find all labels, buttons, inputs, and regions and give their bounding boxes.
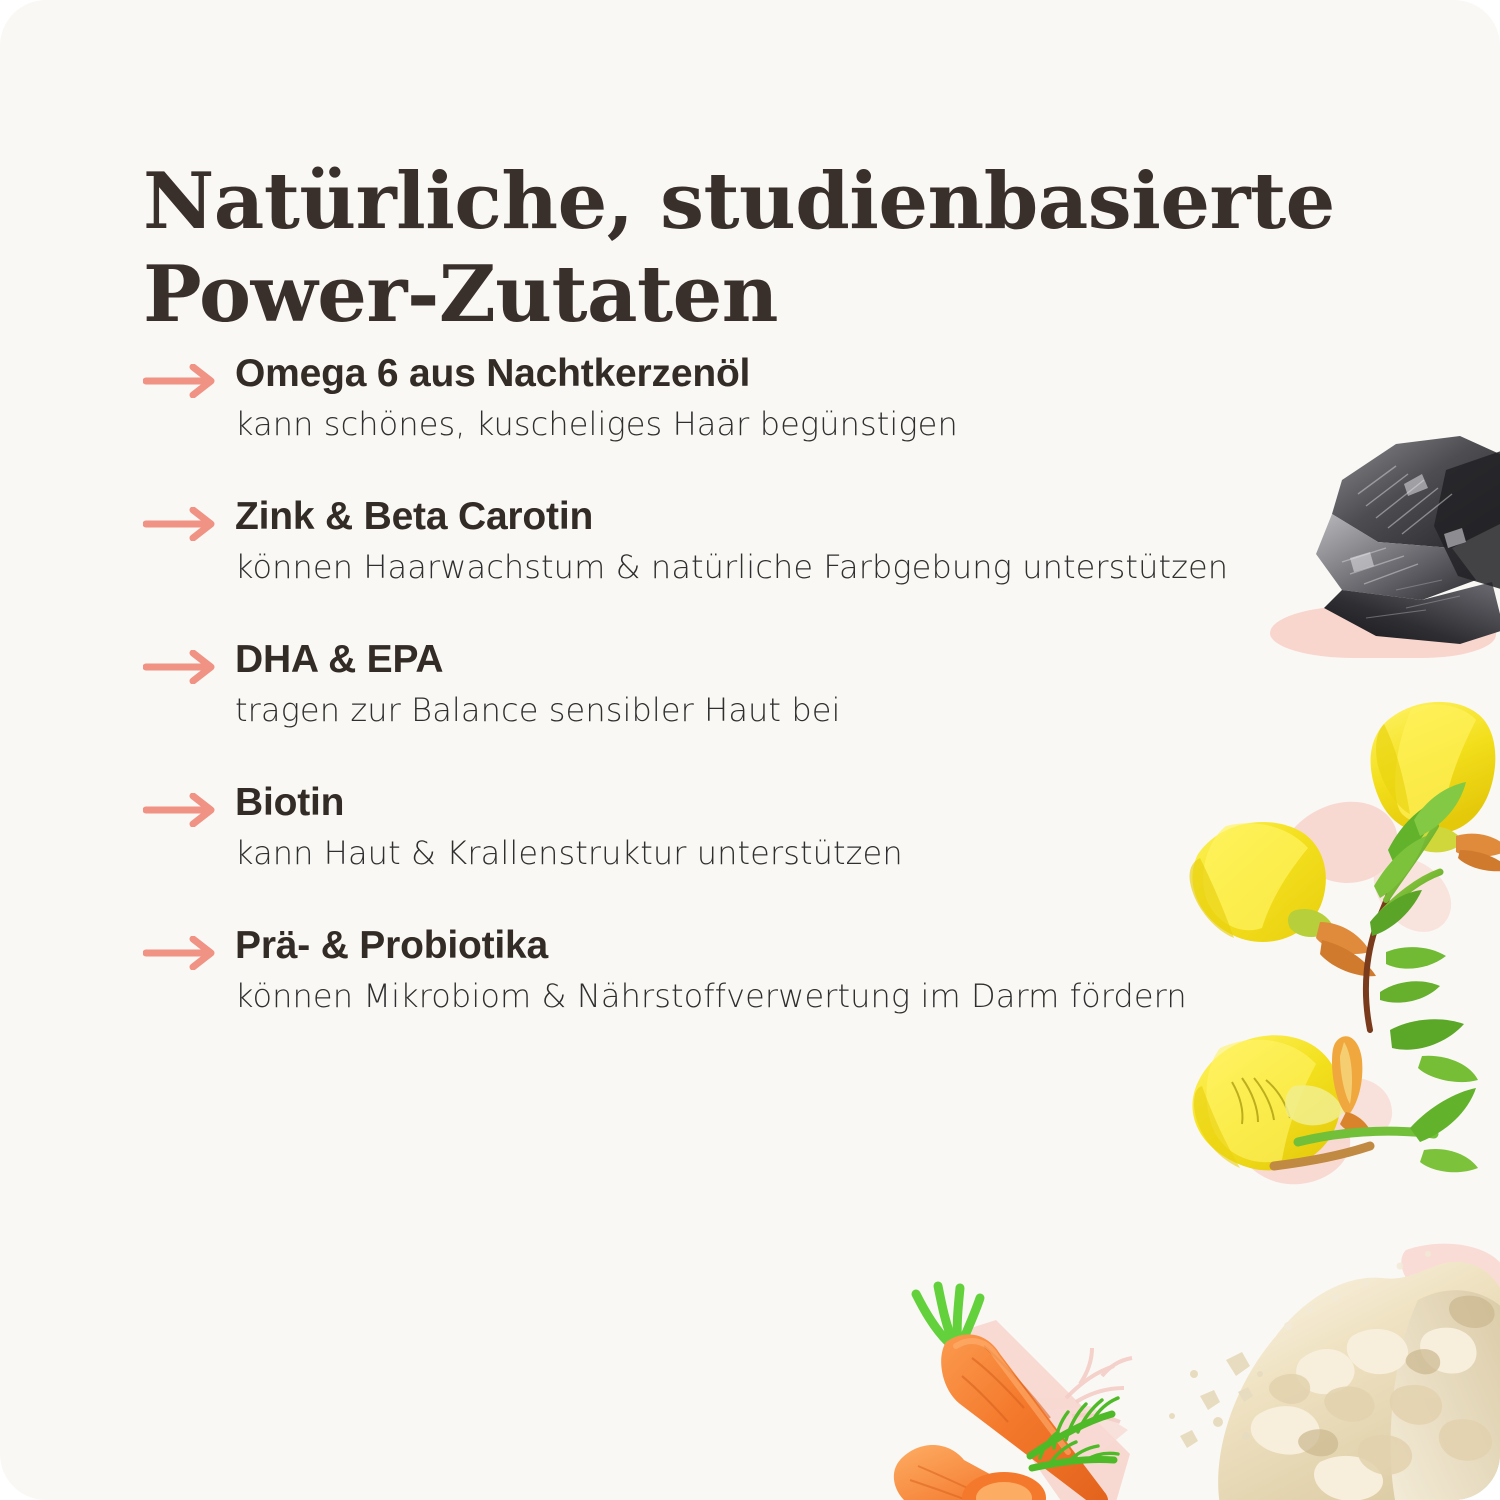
ingredients-card: Natürliche, studienbasierte Power-Zutate… xyxy=(0,0,1500,1500)
ingredient-title: DHA & EPA xyxy=(235,638,1333,682)
ingredient-description: können Haarwachstum & natürliche Farbgeb… xyxy=(235,548,1333,586)
ingredient-description: tragen zur Balance sensibler Haut bei xyxy=(235,691,1333,729)
list-item: Prä- & Probiotika können Mikrobiom & Näh… xyxy=(143,924,1333,1067)
arrow-right-icon xyxy=(143,507,219,541)
list-item: Zink & Beta Carotin können Haarwachstum … xyxy=(143,495,1333,638)
ingredient-description: können Mikrobiom & Nährstoffverwertung i… xyxy=(235,977,1333,1015)
ingredient-title: Omega 6 aus Nachtkerzenöl xyxy=(235,352,1333,396)
ingredient-title: Biotin xyxy=(235,781,1333,825)
ingredient-title: Prä- & Probiotika xyxy=(235,924,1333,968)
list-item: Omega 6 aus Nachtkerzenöl kann schönes, … xyxy=(143,352,1333,495)
powder-pile-image xyxy=(1160,1240,1500,1500)
carrots-image xyxy=(880,1280,1240,1500)
ingredient-description: kann schönes, kuscheliges Haar begünstig… xyxy=(235,405,1333,443)
page-title-line-1: Natürliche, studienbasierte xyxy=(143,156,1413,249)
ingredient-description: kann Haut & Krallenstruktur unterstützen xyxy=(235,834,1333,872)
arrow-right-icon xyxy=(143,364,219,398)
arrow-right-icon xyxy=(143,936,219,970)
ingredient-title: Zink & Beta Carotin xyxy=(235,495,1333,539)
arrow-right-icon xyxy=(143,793,219,827)
page-title: Natürliche, studienbasierte Power-Zutate… xyxy=(143,156,1413,342)
arrow-right-icon xyxy=(143,650,219,684)
ingredient-list: Omega 6 aus Nachtkerzenöl kann schönes, … xyxy=(143,352,1333,1067)
list-item: Biotin kann Haut & Krallenstruktur unter… xyxy=(143,781,1333,924)
list-item: DHA & EPA tragen zur Balance sensibler H… xyxy=(143,638,1333,781)
page-title-line-2: Power-Zutaten xyxy=(143,249,1413,342)
